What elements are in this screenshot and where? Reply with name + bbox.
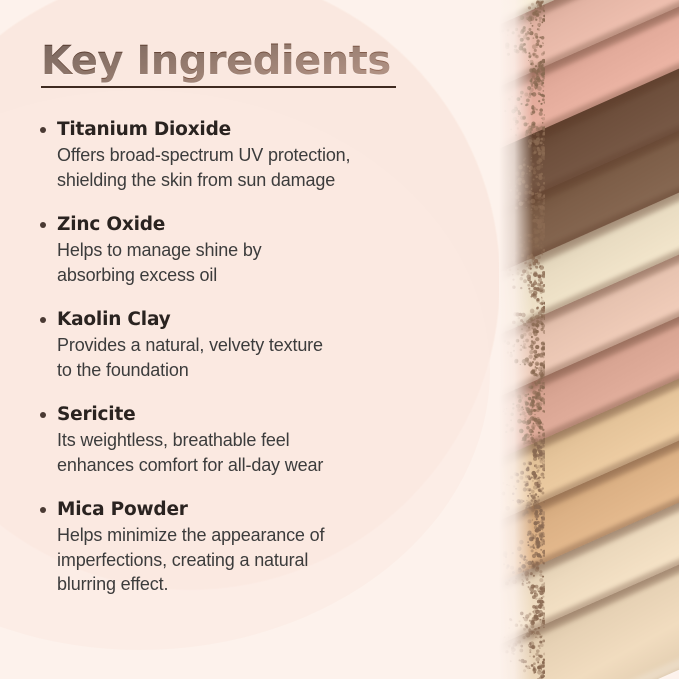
ingredient-description: Its weightless, breathable feel enhances… xyxy=(57,428,458,477)
page-title: Key Ingredients xyxy=(41,38,461,84)
bullet-dot-icon xyxy=(40,412,46,418)
ingredient-description: Offers broad-spectrum UV protection, shi… xyxy=(57,143,458,192)
bullet-dot-icon xyxy=(40,127,46,133)
ingredient-item: SericiteIts weightless, breathable feel … xyxy=(38,403,458,477)
ingredient-name: Sericite xyxy=(57,403,458,427)
powder-shade-bands xyxy=(499,0,679,679)
powder-swatch-strip xyxy=(499,0,679,679)
ingredient-name: Zinc Oxide xyxy=(57,213,458,237)
ingredient-name: Kaolin Clay xyxy=(57,308,458,332)
title-block: Key Ingredients xyxy=(41,38,461,88)
ingredient-item: Zinc OxideHelps to manage shine by absor… xyxy=(38,213,458,287)
ingredient-description: Provides a natural, velvety texture to t… xyxy=(57,333,458,382)
ingredient-item: Titanium DioxideOffers broad-spectrum UV… xyxy=(38,118,458,192)
ingredient-name: Titanium Dioxide xyxy=(57,118,458,142)
ingredient-description: Helps minimize the appearance of imperfe… xyxy=(57,523,458,597)
bullet-dot-icon xyxy=(40,222,46,228)
ingredient-list: Titanium DioxideOffers broad-spectrum UV… xyxy=(38,118,458,597)
ingredient-name: Mica Powder xyxy=(57,498,458,522)
bullet-dot-icon xyxy=(40,317,46,323)
ingredients-infographic: Key Ingredients Titanium DioxideOffers b… xyxy=(0,0,679,679)
bullet-dot-icon xyxy=(40,507,46,513)
content-column: Key Ingredients Titanium DioxideOffers b… xyxy=(0,0,500,679)
ingredient-description: Helps to manage shine by absorbing exces… xyxy=(57,238,458,287)
ingredient-item: Kaolin ClayProvides a natural, velvety t… xyxy=(38,308,458,382)
title-underline xyxy=(41,86,396,88)
ingredient-item: Mica PowderHelps minimize the appearance… xyxy=(38,498,458,597)
